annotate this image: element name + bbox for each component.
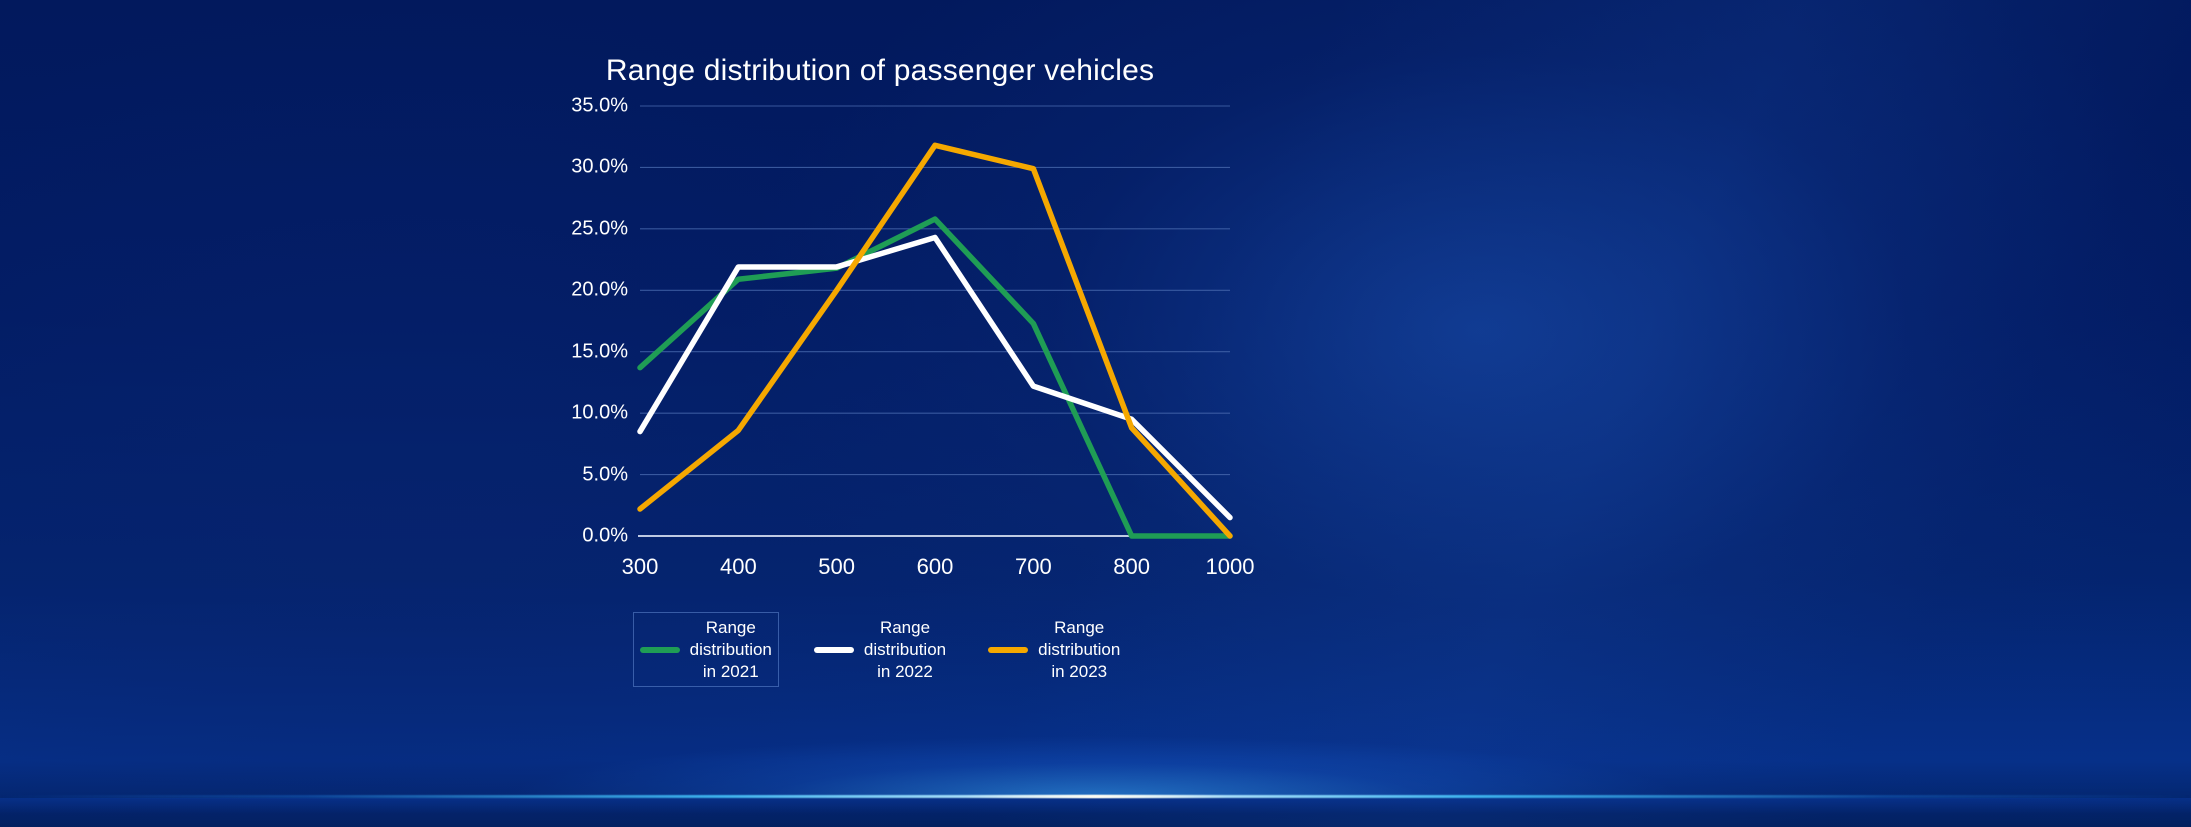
y-axis-tick-label: 15.0%	[571, 340, 640, 363]
horizon-glow	[0, 700, 2191, 827]
horizon-line	[0, 795, 2191, 798]
y-axis-tick-label: 5.0%	[582, 463, 640, 486]
x-axis-tick-label: 300	[622, 554, 659, 580]
horizon-lower-glow	[0, 798, 2191, 827]
horizon-core-highlight	[964, 795, 1227, 798]
series-line-3	[640, 145, 1230, 536]
series-line-1	[640, 219, 1230, 536]
legend-swatch-icon	[640, 647, 680, 653]
series-line-2	[640, 237, 1230, 517]
legend-item-label: Range distribution in 2023	[1038, 617, 1120, 682]
y-axis-tick-label: 0.0%	[582, 525, 640, 548]
y-axis-tick-label: 10.0%	[571, 402, 640, 425]
legend-item-label: Range distribution in 2022	[864, 617, 946, 682]
legend-item-1[interactable]: Range distribution in 2021	[633, 612, 779, 687]
legend-item-2[interactable]: Range distribution in 2022	[807, 612, 953, 687]
y-axis-tick-label: 30.0%	[571, 156, 640, 179]
line-chart: Range distribution of passenger vehicles…	[520, 28, 1240, 708]
x-axis-tick-label: 600	[917, 554, 954, 580]
x-axis-tick-label: 800	[1113, 554, 1150, 580]
legend-swatch-icon	[814, 647, 854, 653]
y-axis-tick-label: 25.0%	[571, 217, 640, 240]
plot-svg	[520, 28, 1240, 708]
x-axis-tick-label: 1000	[1206, 554, 1255, 580]
y-axis-tick-label: 35.0%	[571, 95, 640, 118]
plot-area: 0.0%5.0%10.0%15.0%20.0%25.0%30.0%35.0% 3…	[520, 28, 1240, 708]
horizon-haze	[0, 700, 2191, 797]
x-axis-tick-label: 700	[1015, 554, 1052, 580]
legend-item-label: Range distribution in 2021	[690, 617, 772, 682]
x-axis-tick-label: 400	[720, 554, 757, 580]
chart-legend[interactable]: Range distribution in 2021Range distribu…	[520, 612, 1240, 687]
legend-item-3[interactable]: Range distribution in 2023	[981, 612, 1127, 687]
x-axis-tick-label: 500	[818, 554, 855, 580]
legend-swatch-icon	[988, 647, 1028, 653]
slide-canvas: Range distribution of passenger vehicles…	[0, 0, 2191, 827]
y-axis-tick-label: 20.0%	[571, 279, 640, 302]
